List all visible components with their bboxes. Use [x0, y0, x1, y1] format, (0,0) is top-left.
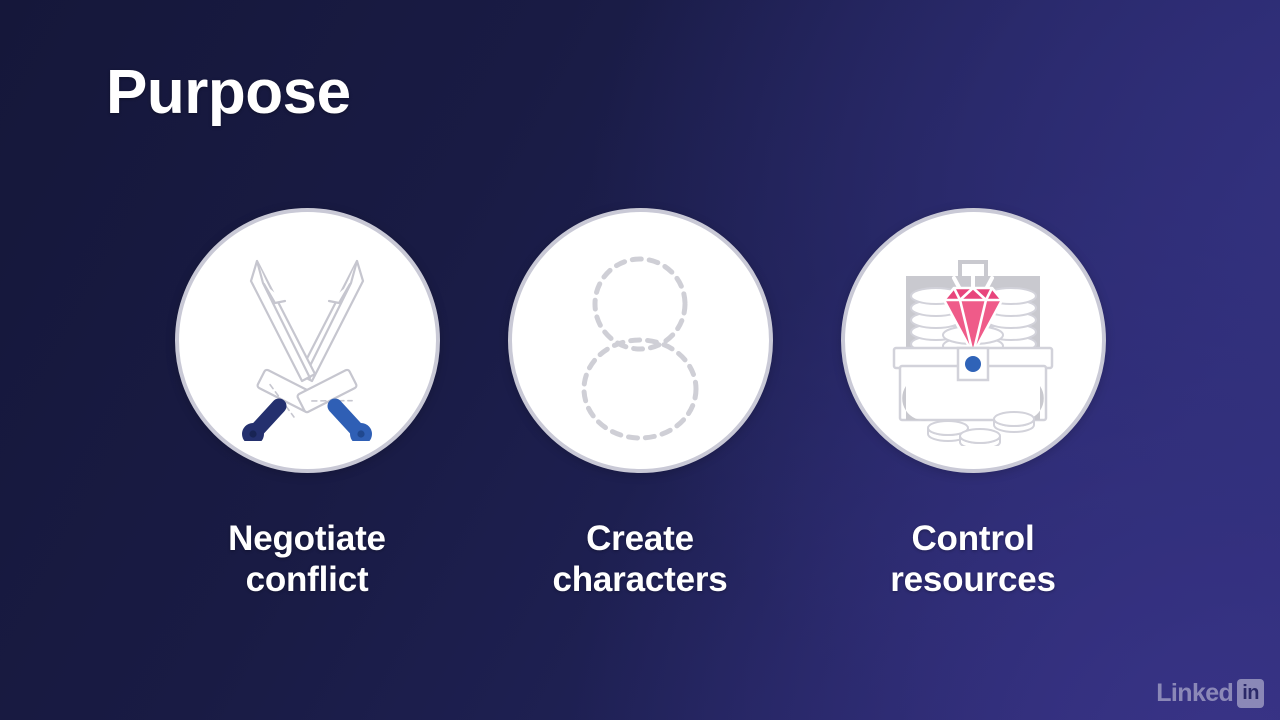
dashed-person-icon — [540, 241, 740, 441]
card-label-create-characters: Create characters — [552, 519, 727, 600]
card-negotiate-conflict[interactable]: Negotiate conflict — [175, 208, 440, 600]
icon-circle-create-characters — [508, 208, 773, 473]
treasure-chest-icon — [868, 236, 1078, 446]
slide-canvas: Purpose — [0, 0, 1280, 720]
crossed-swords-icon — [207, 241, 407, 441]
sword-handle-right — [335, 406, 372, 441]
page-title: Purpose — [106, 60, 351, 125]
linkedin-in-badge-icon: in — [1237, 679, 1264, 708]
card-label-negotiate-conflict: Negotiate conflict — [228, 519, 386, 600]
card-control-resources[interactable]: Control resources — [841, 208, 1106, 600]
card-label-control-resources: Control resources — [890, 519, 1056, 600]
sword-handle-left — [242, 406, 279, 441]
linkedin-wordmark: Linked — [1156, 681, 1233, 706]
icon-circle-control-resources — [841, 208, 1106, 473]
chest-lock — [958, 348, 988, 380]
card-create-characters[interactable]: Create characters — [508, 208, 773, 600]
icon-circle-negotiate-conflict — [175, 208, 440, 473]
lock-dot — [965, 356, 981, 372]
purpose-cards-row: Negotiate conflict Create characters — [0, 208, 1280, 600]
person-body-outline — [584, 340, 696, 438]
person-head-outline — [595, 259, 685, 349]
linkedin-watermark: Linked in — [1156, 679, 1264, 708]
